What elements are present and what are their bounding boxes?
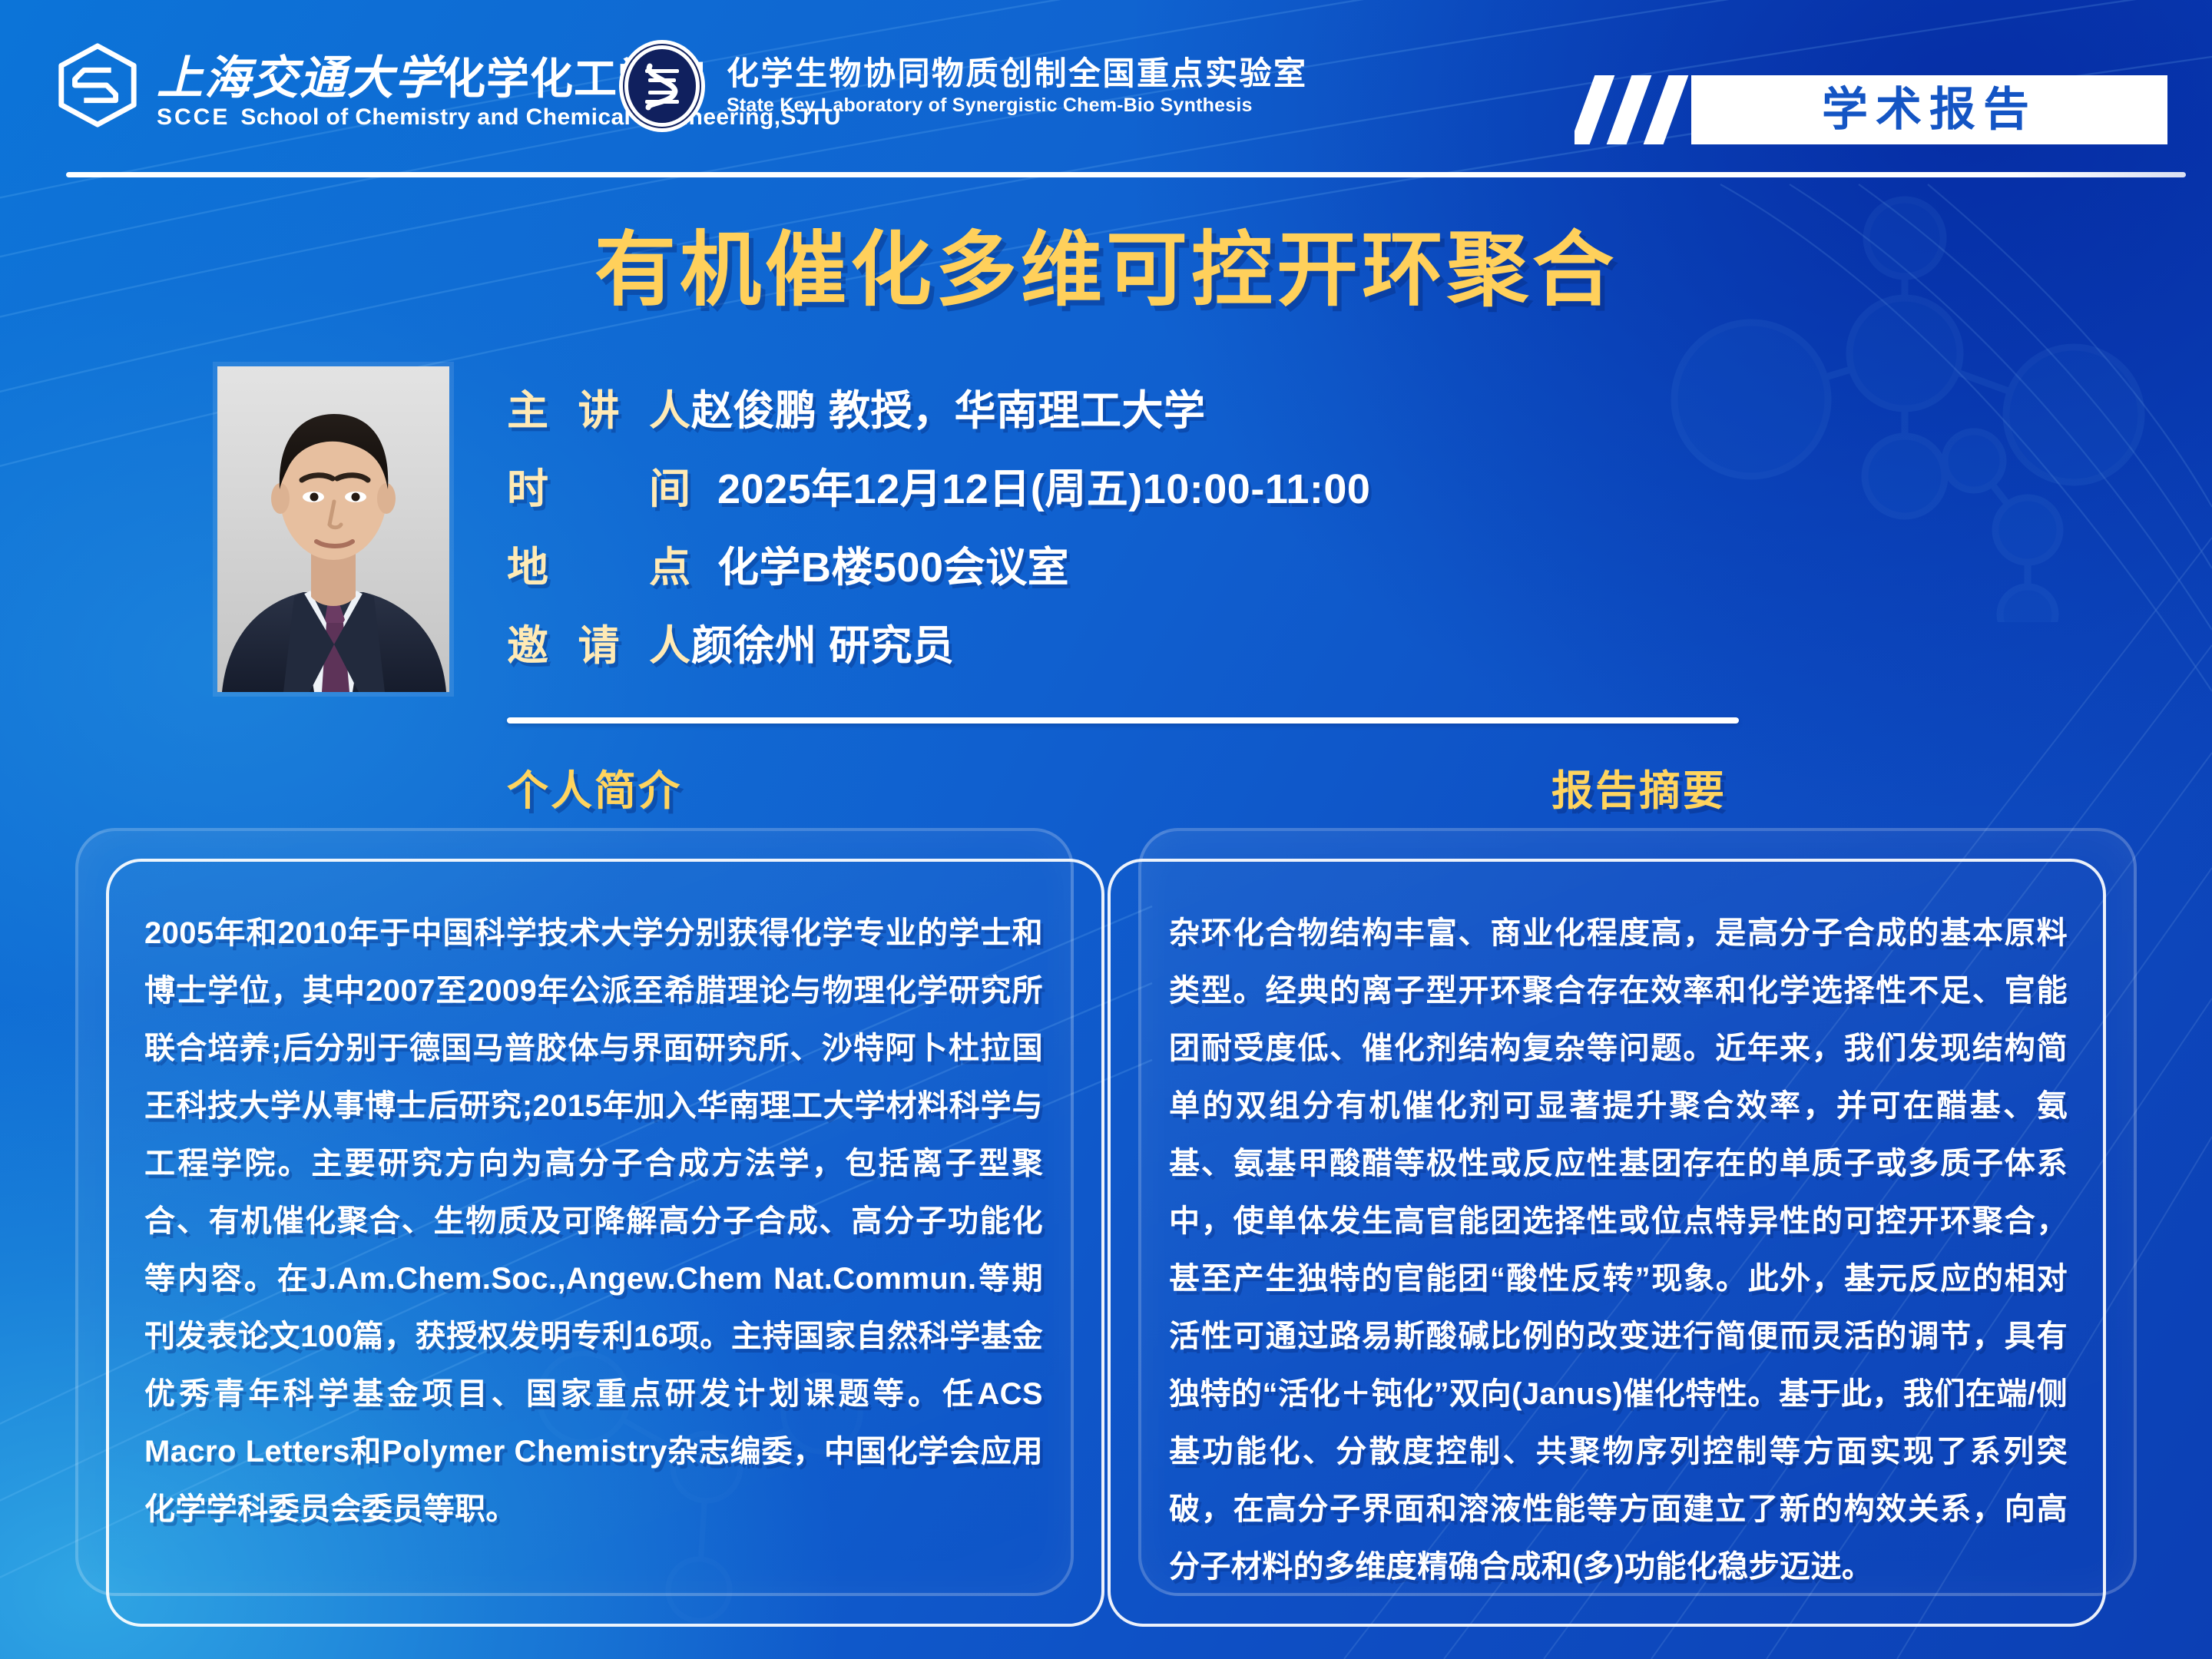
sjtu-university-cn: 上海交通大学 <box>157 53 442 104</box>
badge-panel: 学术报告 <box>1691 75 2167 144</box>
info-row: 邀 请 人 颜徐州 研究员 <box>507 619 1751 673</box>
seminar-info: 主 讲 人 赵俊鹏 教授，华南理工大学 时 间 2025年12月12日(周五)1… <box>507 384 1751 697</box>
seminar-poster: 上海交通大学化学化工学院 SCCESchool of Chemistry and… <box>0 0 2212 1659</box>
speaker-portrait-illustration <box>217 366 449 692</box>
info-label-venue: 地 点 <box>507 541 717 594</box>
bio-panel-body: 2005年和2010年于中国科学技术大学分别获得化学专业的学士和博士学位，其中2… <box>144 905 1043 1581</box>
info-value-venue: 化学B楼500会议室 <box>717 541 1069 594</box>
info-label-speaker: 主 讲 人 <box>507 384 691 438</box>
hexagon-s-logo-icon <box>52 40 143 131</box>
bio-heading: 个人简介 <box>507 768 682 814</box>
label-char: 讲 <box>578 384 621 438</box>
info-value-time: 2025年12月12日(周五)10:00-11:00 <box>717 462 1370 516</box>
label-char: 地 <box>507 541 549 594</box>
info-row: 主 讲 人 赵俊鹏 教授，华南理工大学 <box>507 384 1751 438</box>
lab-logo: 化学生物协同物质创制全国重点实验室 State Key Laboratory o… <box>614 38 1308 134</box>
info-label-host: 邀 请 人 <box>507 619 691 673</box>
label-char: 请 <box>578 619 621 673</box>
lab-name-cn: 化学生物协同物质创制全国重点实验室 <box>727 55 1308 92</box>
section-divider <box>507 717 1739 724</box>
info-value-host: 颜徐州 研究员 <box>691 619 955 673</box>
abstract-panel-body: 杂环化合物结构丰富、商业化程度高，是高分子合成的基本原料类型。经典的离子型开环聚… <box>1169 905 2068 1581</box>
badge-label: 学术报告 <box>1822 86 2037 134</box>
info-value-speaker: 赵俊鹏 教授，华南理工大学 <box>691 384 1206 438</box>
label-char: 主 <box>507 384 549 438</box>
lab-name-en: State Key Laboratory of Synergistic Chem… <box>727 94 1308 117</box>
label-char: 邀 <box>507 619 549 673</box>
label-char: 点 <box>649 541 691 594</box>
info-row: 时 间 2025年12月12日(周五)10:00-11:00 <box>507 462 1751 516</box>
abstract-panel: 杂环化合物结构丰富、商业化程度高，是高分子合成的基本原料类型。经典的离子型开环聚… <box>1138 828 2137 1596</box>
label-char: 人 <box>649 619 691 673</box>
avatar <box>217 366 449 692</box>
sjtu-abbr: SCCE <box>157 104 230 130</box>
info-row: 地 点 化学B楼500会议室 <box>507 541 1751 594</box>
label-char: 人 <box>649 384 691 438</box>
label-char: 时 <box>507 462 549 516</box>
triple-slash-icon <box>1575 75 1704 144</box>
bio-text: 2005年和2010年于中国科学技术大学分别获得化学专业的学士和博士学位，其中2… <box>144 905 1043 1538</box>
bio-panel: 2005年和2010年于中国科学技术大学分别获得化学专业的学士和博士学位，其中2… <box>75 828 1074 1596</box>
page-title: 有机催化多维可控开环聚合 <box>0 224 2212 316</box>
info-label-time: 时 间 <box>507 462 717 516</box>
abstract-heading: 报告摘要 <box>1551 768 1727 814</box>
abstract-text: 杂环化合物结构丰富、商业化程度高，是高分子合成的基本原料类型。经典的离子型开环聚… <box>1169 905 2068 1596</box>
header-divider <box>66 172 2186 177</box>
poster-header: 上海交通大学化学化工学院 SCCESchool of Chemistry and… <box>0 0 2212 177</box>
lab-seal-icon <box>614 38 710 134</box>
academic-report-badge: 学术报告 <box>1575 75 2167 144</box>
label-char: 间 <box>649 462 691 516</box>
